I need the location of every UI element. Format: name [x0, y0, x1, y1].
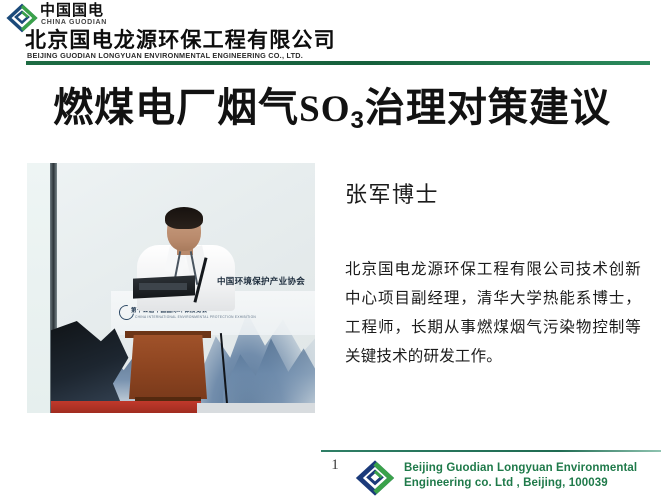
photo-speaker-hair	[165, 207, 203, 229]
footer-line-1: Beijing Guodian Longyuan Environmental	[404, 461, 662, 476]
slide-header: 中国国电 CHINA GUODIAN 北京国电龙源环保工程有限公司 BEIJIN…	[0, 0, 664, 66]
photo-laptop-keyboard	[139, 283, 187, 290]
guodian-footer-logo-icon	[355, 460, 395, 496]
presentation-slide: 中国国电 CHINA GUODIAN 北京国电龙源环保工程有限公司 BEIJIN…	[0, 0, 664, 502]
speaker-biography: 北京国电龙源环保工程有限公司技术创新中心项目副经理，清华大学热能系博士，工程师，…	[345, 255, 641, 371]
photo-podium	[129, 335, 207, 399]
parent-company-name-en: CHINA GUODIAN	[41, 19, 107, 27]
speaker-photo: 第十五届中国国际环保展览会 CHINA INTERNATIONAL ENVIRO…	[27, 163, 315, 413]
photo-floor	[197, 403, 315, 413]
page-number: 1	[327, 457, 343, 474]
company-name-cn: 北京国电龙源环保工程有限公司	[25, 29, 336, 52]
header-divider	[26, 61, 650, 65]
slide-title: 燃煤电厂烟气SO3治理对策建议	[0, 84, 664, 138]
title-formula-so: SO	[299, 89, 350, 130]
title-text-before: 燃煤电厂烟气	[53, 86, 299, 130]
photo-red-carpet	[51, 401, 201, 413]
photo-banner-text: 中国环境保护产业协会	[217, 275, 305, 287]
company-name-en: BEIJING GUODIAN LONGYUAN ENVIRONMENTAL E…	[27, 51, 303, 60]
footer-company-address: Beijing Guodian Longyuan Environmental E…	[404, 461, 662, 491]
title-formula-subscript: 3	[351, 107, 365, 134]
photo-banner-subtitle-en: CHINA INTERNATIONAL ENVIRONMENTAL PROTEC…	[135, 315, 256, 319]
title-text-after: 治理对策建议	[365, 86, 611, 130]
footer-line-2: Engineering co. Ltd , Beijing, 100039	[404, 476, 662, 491]
speaker-name: 张军博士	[345, 180, 439, 210]
parent-company-name-cn: 中国国电	[40, 2, 104, 19]
footer-divider	[321, 450, 661, 452]
